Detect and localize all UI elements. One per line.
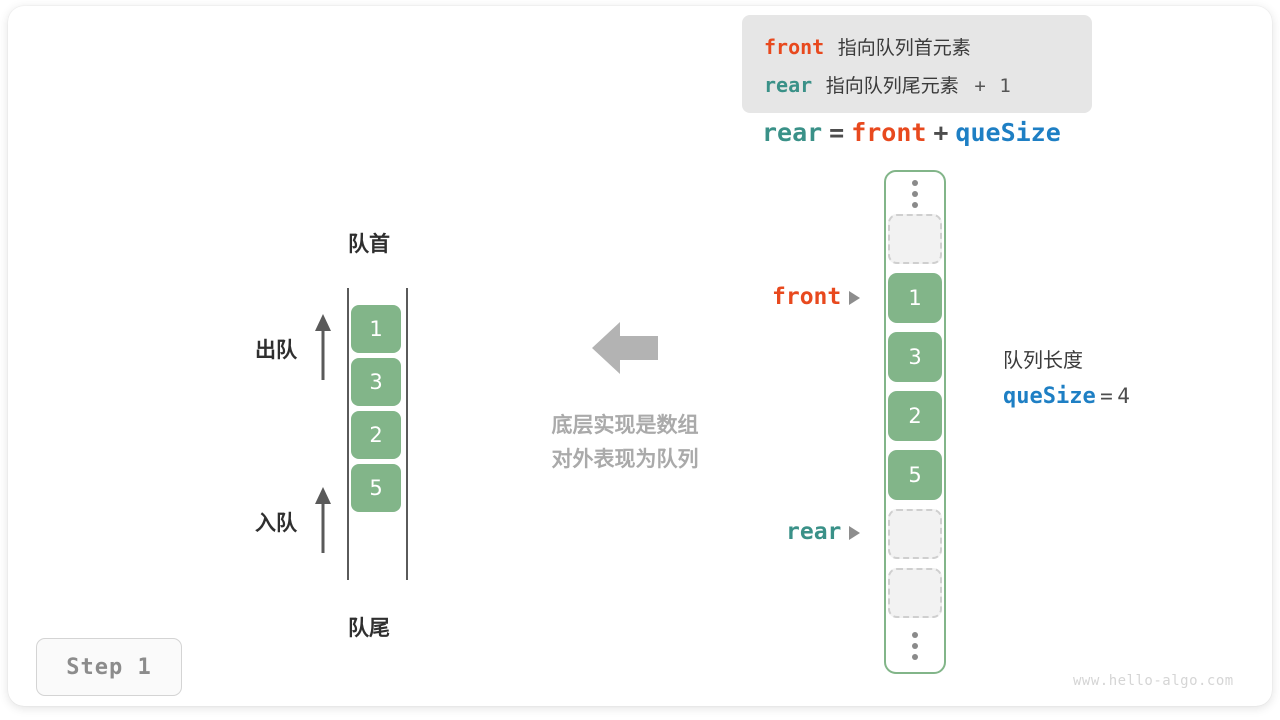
queue-size-note: 队列长度 queSize = 4 (1003, 342, 1130, 417)
watermark: www.hello-algo.com (1073, 673, 1234, 689)
rear-definition-text: 指向队列尾元素 (826, 75, 959, 97)
queue-rail-right (406, 288, 408, 580)
rear-pointer-label: rear (786, 521, 841, 544)
array-cell: 5 (888, 450, 942, 500)
quesize-value: 4 (1117, 384, 1130, 408)
centre-caption-line1: 底层实现是数组 (527, 408, 723, 442)
step-badge: Step 1 (36, 638, 182, 696)
left-arrow-icon (592, 318, 658, 378)
rear-keyword: rear (764, 73, 812, 97)
queue-item: 1 (351, 305, 401, 353)
queue-head-label: 队首 (348, 228, 390, 258)
pointer-definition-box: front 指向队列首元素 rear 指向队列尾元素 + 1 (742, 15, 1092, 113)
queue-item: 2 (351, 411, 401, 459)
formula-front: front (851, 118, 926, 147)
rear-pointer: rear (786, 521, 860, 544)
queue-size-title: 队列长度 (1003, 342, 1130, 378)
dequeue-label: 出队 (255, 334, 297, 364)
centre-caption-line2: 对外表现为队列 (527, 442, 723, 476)
front-pointer: front (772, 286, 860, 309)
quesize-equals: = (1100, 384, 1113, 408)
front-definition-line: front 指向队列首元素 (764, 37, 971, 58)
dequeue-arrow-icon (312, 312, 334, 380)
rear-formula: rear = front + queSize (762, 120, 1061, 146)
rear-definition-line: rear 指向队列尾元素 + 1 (764, 75, 1011, 96)
rear-definition-operator: + (974, 75, 985, 97)
front-keyword: front (764, 35, 824, 59)
formula-plus: + (933, 118, 948, 147)
array-cell-front: 1 (888, 273, 942, 323)
array-cell-empty (888, 214, 942, 264)
array-top-ellipsis-icon (909, 180, 921, 208)
rear-pointer-arrow-icon (849, 526, 860, 540)
array-cell: 2 (888, 391, 942, 441)
front-pointer-arrow-icon (849, 291, 860, 305)
queue-item: 5 (351, 464, 401, 512)
array-cell-empty (888, 568, 942, 618)
front-pointer-label: front (772, 286, 841, 309)
queue-item: 3 (351, 358, 401, 406)
queue-tail-label: 队尾 (348, 612, 390, 642)
rear-definition-offset: 1 (999, 75, 1010, 97)
centre-caption: 底层实现是数组 对外表现为队列 (527, 408, 723, 476)
front-definition-text: 指向队列首元素 (838, 37, 971, 59)
queue-size-expression: queSize = 4 (1003, 378, 1130, 417)
enqueue-label: 入队 (255, 507, 297, 537)
array-cell-rear (888, 509, 942, 559)
queue-rail-left (347, 288, 349, 580)
formula-equals: = (829, 118, 844, 147)
quesize-variable: queSize (1003, 384, 1096, 409)
enqueue-arrow-icon (312, 485, 334, 553)
formula-quesize: queSize (955, 118, 1060, 147)
diagram-canvas: front 指向队列首元素 rear 指向队列尾元素 + 1 rear = fr… (0, 0, 1280, 720)
formula-rear: rear (762, 118, 822, 147)
array-cell: 3 (888, 332, 942, 382)
array-bottom-ellipsis-icon (909, 632, 921, 660)
